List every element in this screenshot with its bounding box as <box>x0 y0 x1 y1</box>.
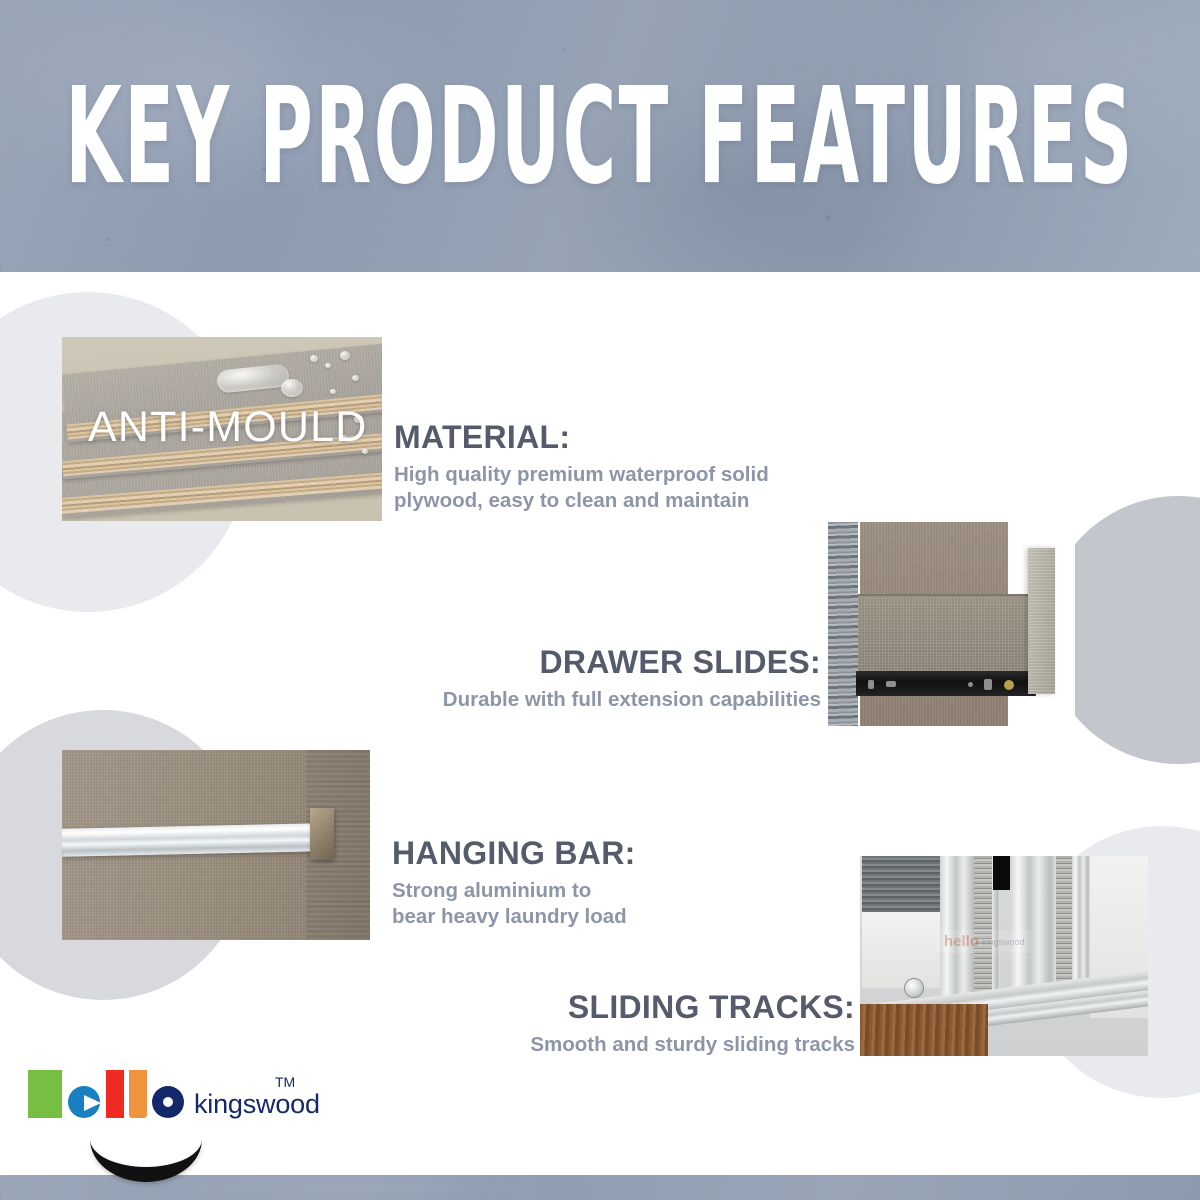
logo-smile-icon <box>90 1126 202 1182</box>
foam-seal <box>974 856 992 998</box>
water-droplet <box>325 363 331 368</box>
hanging-bar-photo <box>62 750 370 940</box>
water-droplet <box>340 351 350 360</box>
logo-brand-text: kingswood <box>194 1089 320 1120</box>
logo-letter-e-icon <box>68 1086 100 1118</box>
feature-hanging-bar-text: HANGING BAR: Strong aluminium to bear he… <box>392 836 636 930</box>
white-door-panel <box>862 912 940 988</box>
footer-bar <box>0 1175 1200 1200</box>
logo-letter-h-icon <box>28 1070 62 1118</box>
cabinet-side-wood <box>828 522 858 726</box>
water-droplet <box>310 355 318 362</box>
rail-screw <box>984 679 992 690</box>
sliding-track-photo: hello kingswood <box>860 856 1148 1056</box>
watermark-kingswood-text: kingswood <box>982 937 1025 947</box>
drawer-rail <box>856 671 1036 696</box>
door-gap <box>993 856 1011 890</box>
water-droplet <box>330 389 336 394</box>
anti-mould-overlay-label: ANTI-MOULD <box>88 403 368 452</box>
roller-wheel <box>904 978 924 998</box>
feature-hanging-bar-body-line1: Strong aluminium to <box>392 878 636 904</box>
drawer-front-panel <box>1028 548 1055 694</box>
brand-logo[interactable]: kingswood TM <box>28 1068 290 1120</box>
water-droplet <box>352 375 359 381</box>
drawer-box <box>858 594 1033 674</box>
drawer-slide-photo <box>828 516 1075 732</box>
rail-screw <box>886 681 896 687</box>
feature-material-text: MATERIAL: High quality premium waterproo… <box>394 420 769 514</box>
watermark-hello-text: hello <box>944 933 979 950</box>
rail-screw <box>968 682 973 687</box>
aluminium-hanging-bar <box>62 823 320 856</box>
page-title: KEY PRODUCT FEATURES <box>132 0 1068 272</box>
feature-drawer-slides-text: DRAWER SLIDES: Durable with full extensi… <box>380 645 821 713</box>
logo-wordmark: kingswood TM <box>28 1068 290 1120</box>
logo-letter-l1-icon <box>106 1070 124 1118</box>
feature-material-body-line1: High quality premium waterproof solid <box>394 462 769 488</box>
feature-hanging-bar-heading: HANGING BAR: <box>392 836 636 872</box>
feature-material-heading: MATERIAL: <box>394 420 769 456</box>
hanging-bar-bracket <box>310 808 334 860</box>
wooden-floor-edge <box>860 1004 988 1056</box>
feature-hanging-bar-body-line2: bear heavy laundry load <box>392 904 636 930</box>
dark-louvre-panel <box>862 856 940 912</box>
logo-trademark-text: TM <box>275 1074 295 1090</box>
logo-letter-o-icon <box>152 1086 184 1118</box>
rail-screw <box>1004 680 1014 690</box>
logo-letter-l2-icon <box>129 1070 147 1118</box>
feature-drawer-slides-heading: DRAWER SLIDES: <box>380 645 821 681</box>
page-header: KEY PRODUCT FEATURES <box>0 0 1200 272</box>
feature-sliding-tracks-body-line1: Smooth and sturdy sliding tracks <box>420 1032 855 1058</box>
water-droplet <box>281 379 303 397</box>
feature-sliding-tracks-heading: SLIDING TRACKS: <box>420 990 855 1026</box>
feature-drawer-slides-body-line1: Durable with full extension capabilities <box>380 687 821 713</box>
photo-watermark: hello kingswood <box>938 930 1031 953</box>
sliding-door-slat <box>1010 856 1056 1002</box>
feature-material-body-line2: plywood, easy to clean and maintain <box>394 488 769 514</box>
feature-sliding-tracks-text: SLIDING TRACKS: Smooth and sturdy slidin… <box>420 990 855 1058</box>
sliding-door-slat <box>940 856 978 996</box>
rail-screw <box>868 680 874 689</box>
